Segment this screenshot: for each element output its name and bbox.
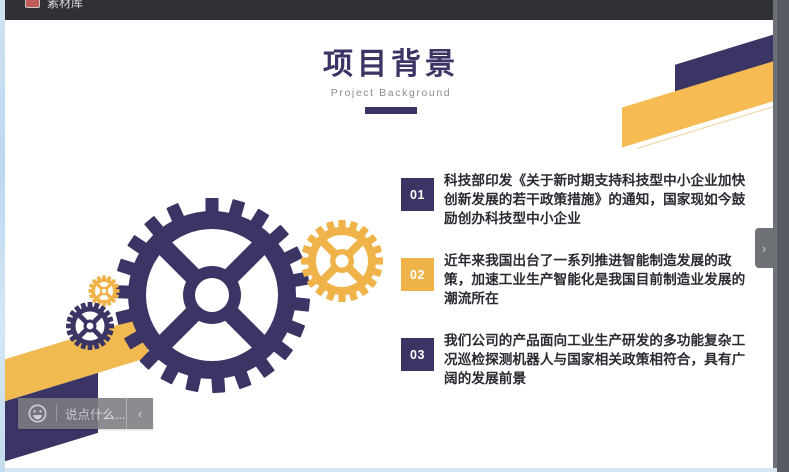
topbar-item-library[interactable]: 素材库 (25, 0, 83, 11)
slide-title-block: 项目背景 Project Background (5, 48, 777, 114)
bullet-badge-02: 02 (401, 258, 434, 291)
bullet-text-03: 我们公司的产品面向工业生产研发的多功能复杂工况巡检探测机器人与国家相关政策相符合… (444, 332, 751, 389)
bullet-badge-01: 01 (401, 178, 434, 211)
gears-illustration (57, 198, 402, 408)
screen-root: 素材库 锁定画面 项目背景 Project Background (0, 0, 789, 472)
gear-large-purple (114, 198, 310, 393)
bullet-item: 02 近年来我国出台了一系列推进智能制造发展的政策，加速工业生产智能化是我国目前… (401, 252, 751, 309)
top-menu-bar: 素材库 (5, 0, 777, 20)
chevron-right-icon[interactable]: › (755, 228, 773, 268)
library-icon (25, 0, 40, 8)
page-title: 项目背景 (5, 48, 777, 83)
right-edge-strip (777, 0, 789, 472)
topbar-item-label: 素材库 (47, 0, 83, 11)
chat-collapse-icon[interactable]: ‹ (126, 398, 153, 429)
bullet-list: 01 科技部印发《关于新时期支持科技型中小企业加快创新发展的若干政策措施》的通知… (401, 172, 751, 412)
bullet-badge-03: 03 (401, 338, 434, 371)
bullet-item: 01 科技部印发《关于新时期支持科技型中小企业加快创新发展的若干政策措施》的通知… (401, 172, 751, 229)
gear-small-amber (89, 276, 120, 307)
gear-medium-amber (301, 220, 383, 302)
gear-small-purple (66, 302, 114, 350)
bottom-edge-strip (5, 468, 777, 472)
page-subtitle: Project Background (5, 87, 777, 99)
bullet-item: 03 我们公司的产品面向工业生产研发的多功能复杂工况巡检探测机器人与国家相关政策… (401, 332, 751, 389)
chat-input[interactable]: 说点什么... (57, 404, 126, 423)
smiley-icon[interactable] (18, 398, 56, 429)
bullet-text-01: 科技部印发《关于新时期支持科技型中小企业加快创新发展的若干政策措施》的通知，国家… (444, 172, 751, 229)
bullet-text-02: 近年来我国出台了一系列推进智能制造发展的政策，加速工业生产智能化是我国目前制造业… (444, 252, 751, 309)
title-underline (365, 107, 417, 114)
chat-input-bar[interactable]: 说点什么... ‹ (18, 398, 153, 429)
